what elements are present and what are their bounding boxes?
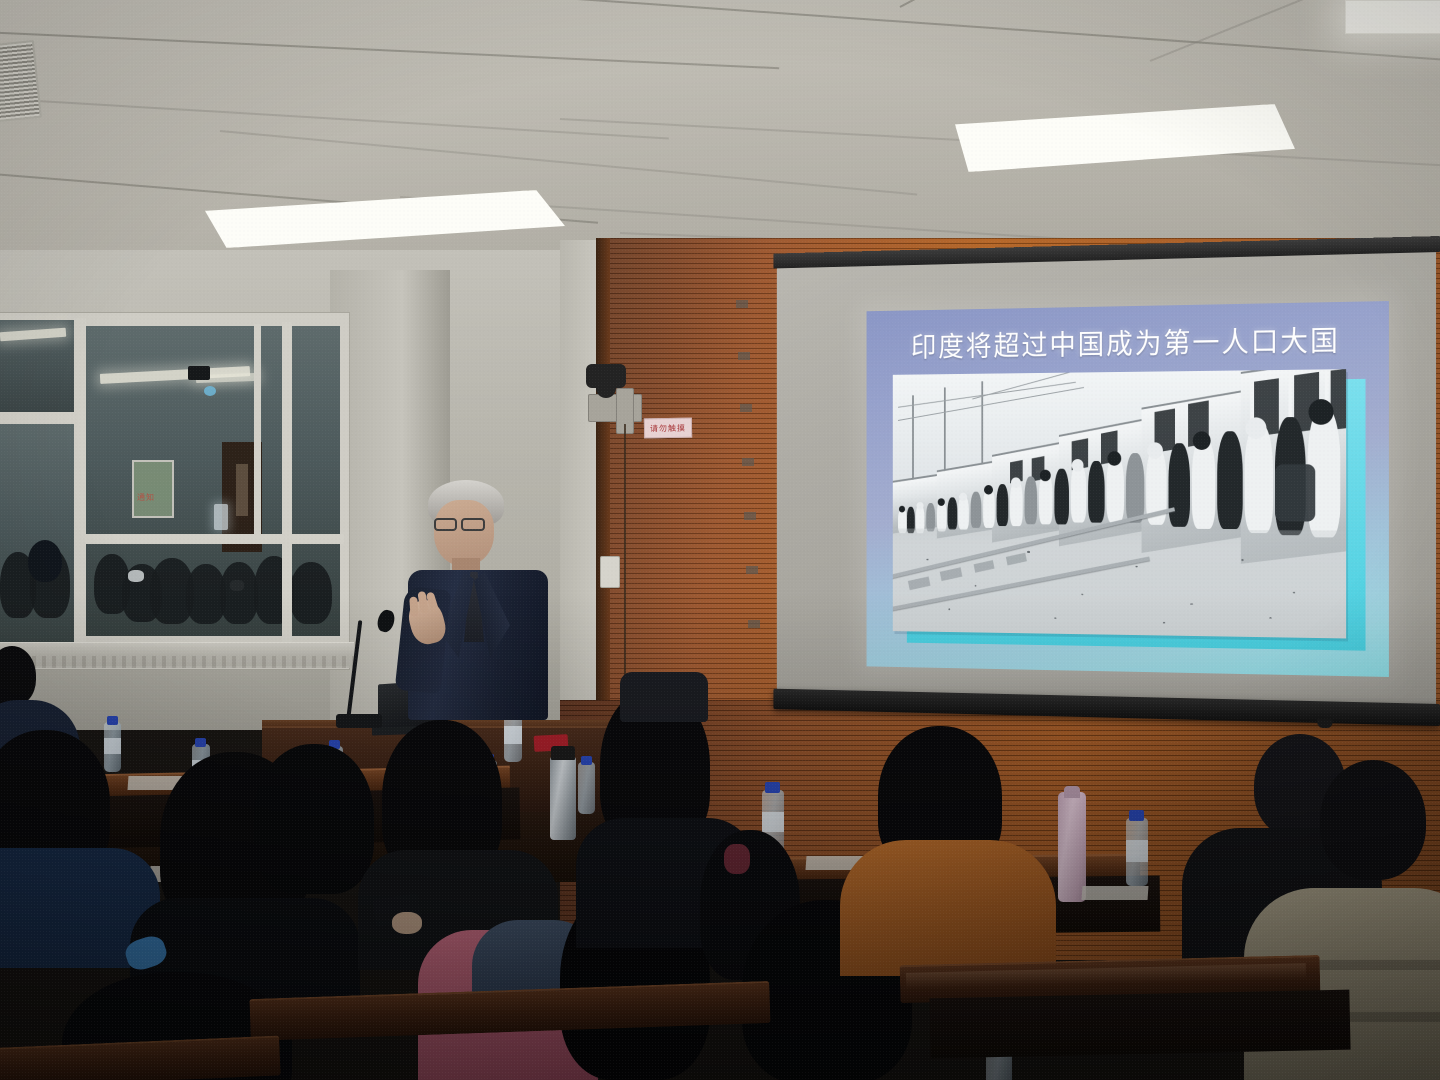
audience-member — [254, 744, 374, 894]
hair-tie — [724, 844, 750, 874]
audience-member-puffer-jacket — [1320, 760, 1426, 880]
projection-screen: 印度将超过中国成为第一人口大国 — [773, 236, 1440, 736]
water-bottle — [578, 762, 595, 814]
paper-sheet — [1082, 886, 1149, 900]
steel-thermos — [550, 756, 576, 840]
ceiling-light-panel-far — [1345, 0, 1440, 34]
wall-outlet — [600, 556, 620, 588]
presenter-face — [434, 500, 494, 566]
wall-warning-sign: 请勿触摸 — [644, 418, 692, 439]
bag-on-bench — [620, 672, 708, 722]
hand-holding-phone — [392, 912, 422, 934]
camera-lens — [596, 378, 616, 398]
masked-person-adjacent-room — [128, 570, 144, 582]
lecture-hall-photo: 通知 请勿触摸 — [0, 0, 1440, 1080]
presenter — [400, 480, 580, 730]
microphone-base — [336, 714, 382, 728]
screen-surface: 印度将超过中国成为第一人口大国 — [777, 252, 1436, 704]
bench-row — [0, 1035, 281, 1080]
presenter-eyeglasses-right — [461, 518, 485, 531]
poster-text: 通知 — [137, 492, 155, 503]
camera-cable — [624, 424, 626, 694]
adjacent-room-phone-screen — [214, 504, 228, 530]
adjacent-room-poster — [132, 460, 174, 518]
presentation-slide: 印度将超过中国成为第一人口大国 — [867, 301, 1389, 677]
presenter-eyeglasses — [434, 518, 457, 531]
interior-window: 通知 — [0, 312, 350, 677]
screen-pull-knob[interactable] — [1317, 719, 1332, 728]
wood-wall-edge — [596, 238, 610, 758]
slide-title: 印度将超过中国成为第一人口大国 — [867, 317, 1389, 366]
slide-photo-crowded-train — [893, 369, 1346, 638]
